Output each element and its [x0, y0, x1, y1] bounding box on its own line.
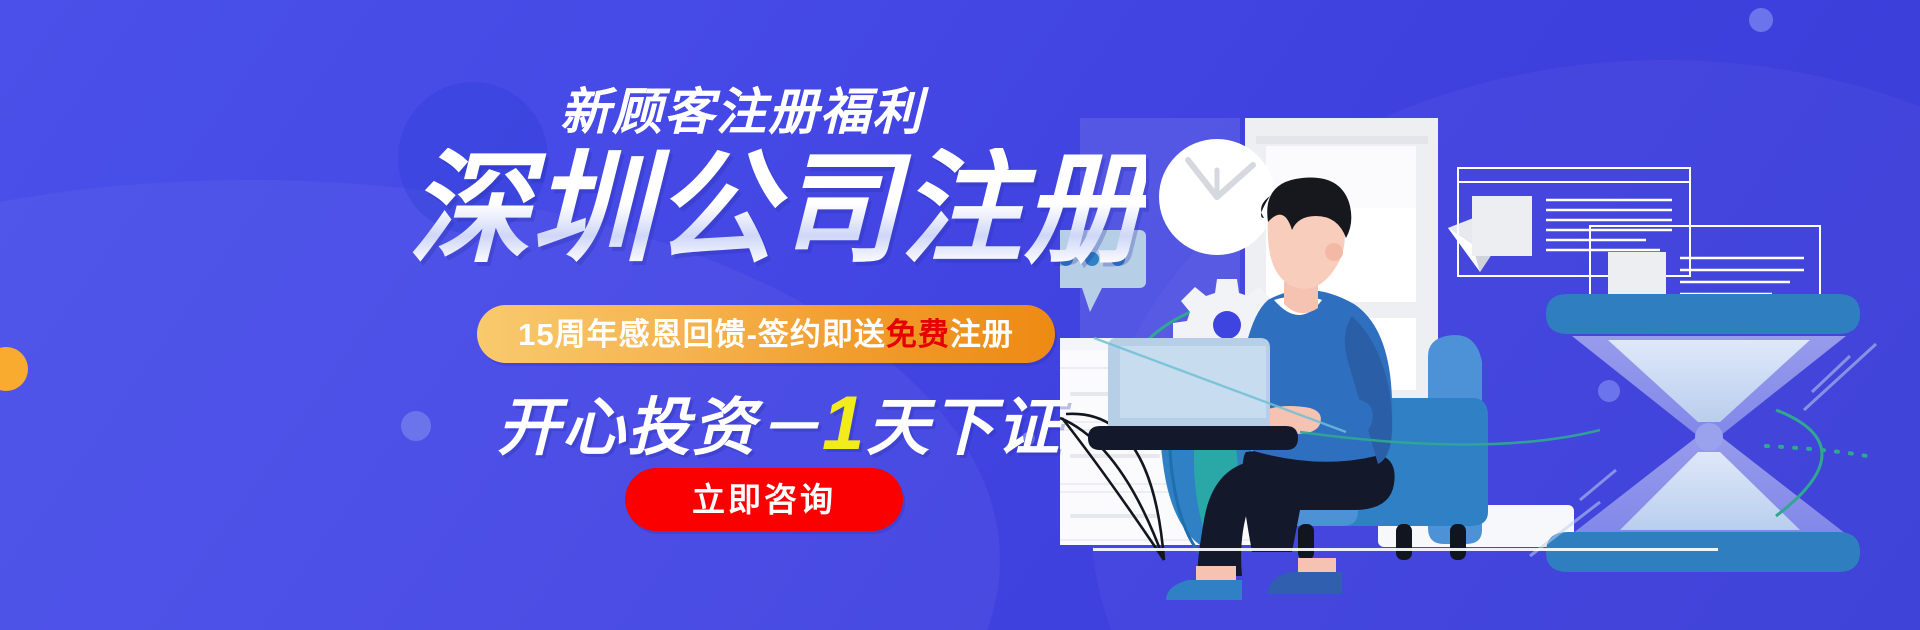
text-block: 新顾客注册福利 深圳公司注册 15周年感恩回馈-签约即送免费注册 开心投资－1天…	[0, 0, 1160, 630]
slogan-suffix: 天下证	[866, 393, 1061, 463]
consult-now-label: 立即咨询	[692, 483, 836, 516]
promo-suffix: 注册	[950, 317, 1014, 352]
hero-illustration	[1060, 0, 1920, 630]
promo-prefix: 15周年感恩回馈-签约即送	[518, 317, 886, 352]
consult-now-button[interactable]: 立即咨询	[625, 468, 903, 531]
illustration-baseline	[1093, 548, 1718, 551]
promo-banner: 新顾客注册福利 深圳公司注册 15周年感恩回馈-签约即送免费注册 开心投资－1天…	[0, 0, 1920, 630]
promo-highlight: 免费	[886, 317, 950, 352]
slogan-text: 开心投资－1天下证	[497, 386, 1061, 462]
slogan-prefix: 开心投资－	[497, 393, 822, 463]
slogan-number: 1	[822, 381, 866, 466]
eyebrow-text: 新顾客注册福利	[560, 72, 924, 144]
promo-pill-badge: 15周年感恩回馈-签约即送免费注册	[477, 305, 1055, 363]
page-title: 深圳公司注册	[408, 148, 1146, 270]
promo-pill-text: 15周年感恩回馈-签约即送免费注册	[518, 319, 1014, 350]
clock-icon	[1159, 139, 1275, 255]
